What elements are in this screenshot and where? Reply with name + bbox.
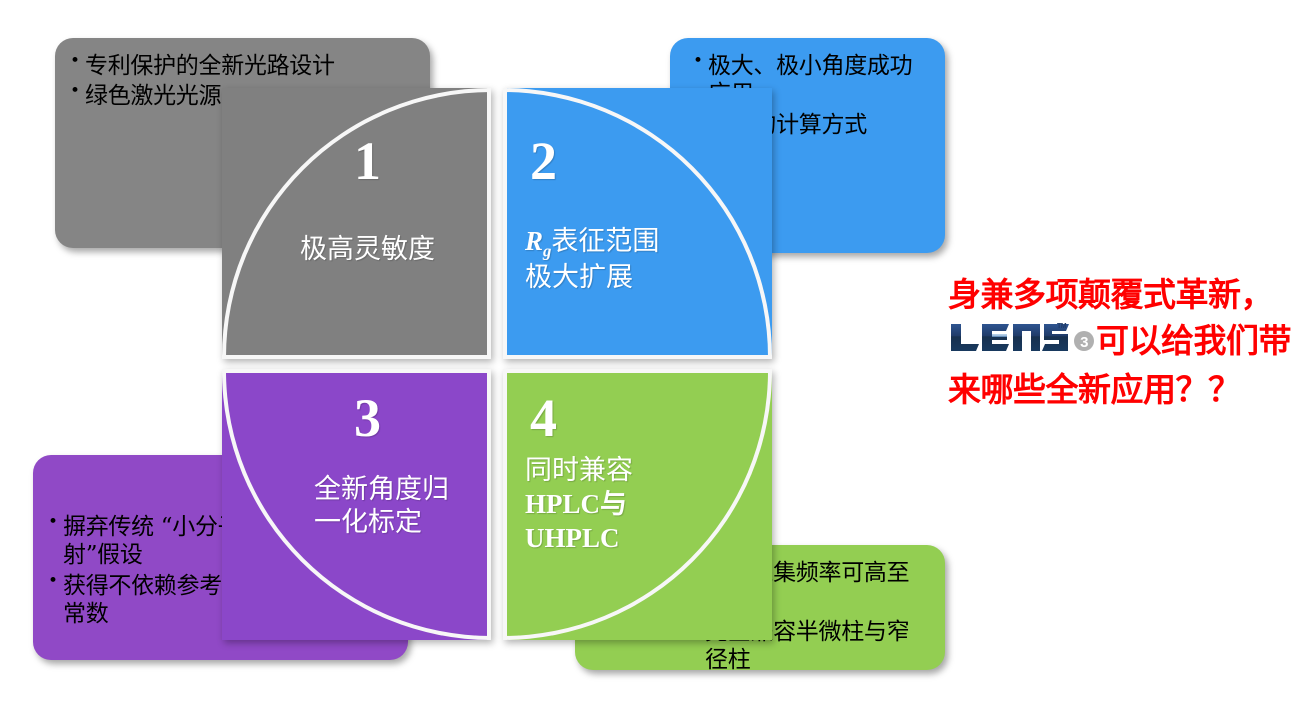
quadrant-2-label: Rg表征范围 极大扩展	[525, 225, 659, 295]
slide-canvas: 专利保护的全新光路设计 绿色激光光源 极大、极小角度成功应用 全新的计算方式 摒…	[0, 0, 1312, 702]
quadrant-4-label-latin: HPLC与 UHPLC	[525, 489, 627, 553]
lens3-logo: TM	[949, 320, 1071, 356]
question-text: 身兼多项颠覆式革新， TM 3 可以给我们带	[948, 272, 1298, 413]
quadrant-4-label-cn: 同时兼容	[525, 455, 633, 486]
quadrant-2-surface	[503, 88, 772, 359]
quadrant-1-surface	[222, 88, 491, 359]
svg-text:3: 3	[1080, 334, 1088, 351]
question-line-before: 身兼多项颠覆式革新，	[948, 275, 1273, 314]
quadrant-2[interactable]: 2 Rg表征范围 极大扩展	[503, 88, 772, 359]
quadrant-4[interactable]: 4 同时兼容 HPLC与 UHPLC	[503, 369, 772, 640]
four-quadrant-wheel: 1 极高灵敏度 2 Rg表征范围 极大扩展 3 全新角度归 一化标定 4 同时兼…	[222, 88, 772, 640]
radius-of-gyration-symbol: Rg	[525, 226, 551, 256]
quadrant-4-label: 同时兼容 HPLC与 UHPLC	[525, 455, 633, 556]
quadrant-1[interactable]: 1 极高灵敏度	[222, 88, 491, 359]
rg-letter: R	[525, 226, 543, 256]
quadrant-1-label: 极高灵敏度	[300, 234, 435, 267]
quadrant-2-number: 2	[530, 134, 557, 188]
quadrant-4-number: 4	[530, 391, 557, 445]
quadrant-3-label: 全新角度归 一化标定	[314, 474, 449, 540]
svg-text:TM: TM	[1057, 323, 1067, 330]
quadrant-3[interactable]: 3 全新角度归 一化标定	[222, 369, 491, 640]
quadrant-3-number: 3	[354, 391, 381, 445]
quadrant-1-number: 1	[354, 134, 381, 188]
list-item: 专利保护的全新光路设计	[69, 52, 414, 80]
lens3-superscript-badge: 3	[1073, 320, 1095, 368]
